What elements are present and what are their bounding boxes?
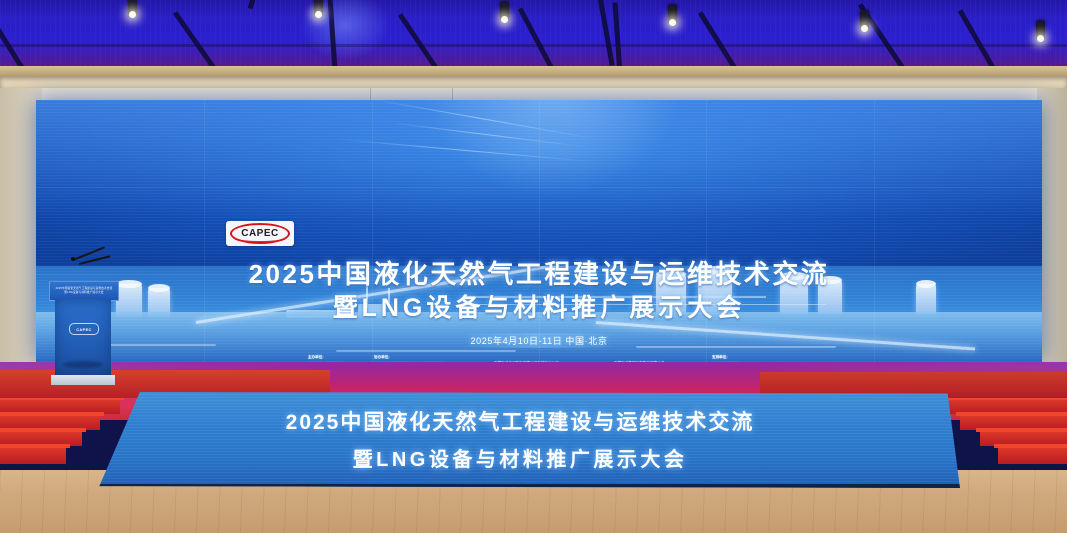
screen-panel-seam	[36, 274, 1042, 275]
ceiling-rail	[0, 44, 1067, 47]
screen-panel-seam	[706, 100, 707, 362]
stage-step-edge	[976, 428, 1067, 432]
screen-panel-seam	[36, 187, 1042, 188]
spotlight	[668, 4, 677, 23]
podium-logo: CAPEC	[69, 323, 99, 335]
spotlight	[1036, 20, 1045, 39]
screen-panel-seam	[372, 100, 373, 362]
stage-step	[0, 446, 66, 464]
conference-stage-scene: CAPEC 2025中国液化天然气工程建设与运维技术交流 暨LNG设备与材料推广…	[0, 0, 1067, 533]
screen-panel-seam	[874, 100, 875, 362]
stage-step-edge	[0, 428, 86, 432]
spotlight	[314, 0, 323, 15]
podium-sign: 2025中国液化天然气工程建设与运维技术交流 暨LNG设备与材料推广展示大会	[49, 281, 119, 301]
stage-step-edge	[994, 444, 1067, 448]
screen-panel-seam	[539, 100, 540, 362]
spotlight	[860, 10, 869, 29]
ceiling	[0, 0, 1067, 72]
podium-sign-line2: 暨LNG设备与材料推广展示大会	[64, 291, 103, 295]
spotlight	[128, 0, 137, 15]
podium-body: CAPEC	[55, 299, 111, 375]
microphone-head	[71, 257, 75, 261]
podium-shadow	[63, 361, 103, 368]
stage-step-edge	[956, 412, 1067, 416]
podium: 2025中国液化天然气工程建设与运维技术交流 暨LNG设备与材料推广展示大会 C…	[55, 281, 111, 385]
podium-base	[51, 375, 115, 385]
stage-step-edge	[0, 444, 70, 448]
screen-panel-seam	[204, 100, 205, 362]
stage-step-edge	[0, 412, 104, 416]
spotlight	[500, 1, 509, 20]
main-led-screen: CAPEC 2025中国液化天然气工程建设与运维技术交流 暨LNG设备与材料推广…	[36, 100, 1042, 362]
floor-banner-scanlines	[80, 392, 960, 488]
stage-step	[998, 446, 1067, 464]
floor-led-banner: 2025中国液化天然气工程建设与运维技术交流 暨LNG设备与材料推广展示大会	[80, 392, 960, 488]
